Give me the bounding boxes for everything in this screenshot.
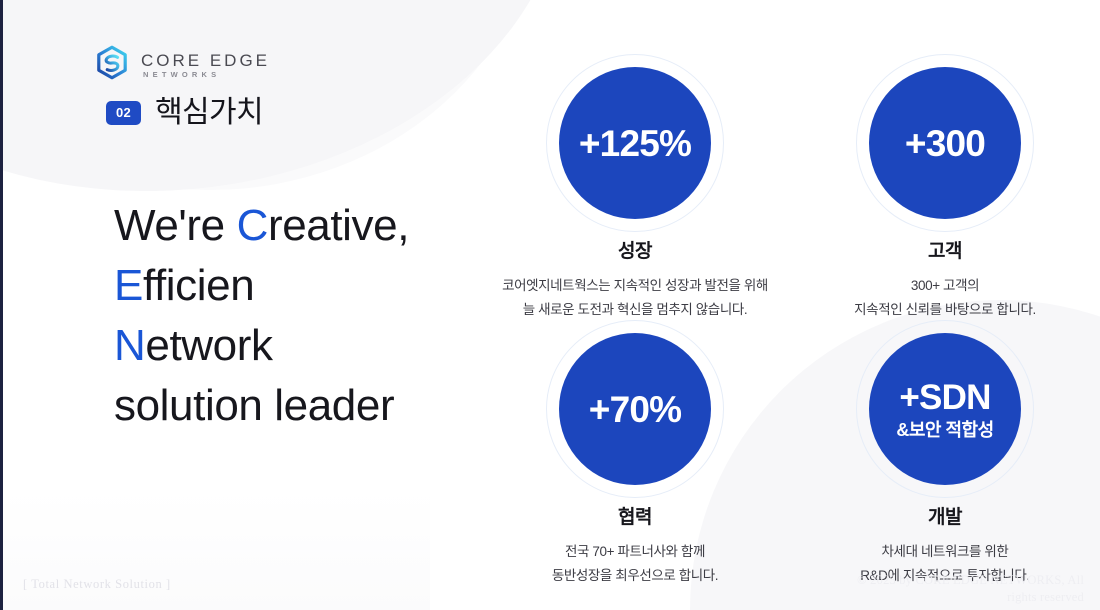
- brand-name: CORE EDGE: [141, 52, 270, 69]
- stat-value: +125%: [579, 125, 691, 162]
- section-title: 핵심가치: [155, 98, 263, 128]
- stat-label: 협력: [618, 508, 652, 527]
- page-headline: We're Creative, Efficien Network solutio…: [114, 196, 409, 436]
- stat-label: 고객: [928, 242, 962, 261]
- section-heading: 02 핵심가치: [106, 98, 263, 128]
- stat-description: 코어엣지네트웍스는 지속적인 성장과 발전을 위해 늘 새로운 도전과 혁신을 …: [502, 274, 768, 322]
- stat-description: 300+ 고객의 지속적인 신뢰를 바탕으로 합니다.: [854, 274, 1036, 322]
- headline-line-3: Network: [114, 316, 409, 376]
- stat-grid: +125% 성장 코어엣지네트웍스는 지속적인 성장과 발전을 위해 늘 새로운…: [480, 62, 1100, 572]
- left-edge-rule: [0, 0, 3, 610]
- brand-wordmark: CORE EDGE NETWORKS: [141, 50, 270, 79]
- stat-card-growth: +125% 성장 코어엣지네트웍스는 지속적인 성장과 발전을 위해 늘 새로운…: [480, 62, 790, 322]
- headline-accent-c: C: [237, 201, 268, 250]
- stat-card-development: +SDN &보안 적합성 개발 차세대 네트워크를 위한 R&D에 지속적으로 …: [790, 328, 1100, 588]
- headline-line-2: Efficien: [114, 256, 409, 316]
- headline-accent-e: E: [114, 261, 143, 310]
- stat-bubble: +70%: [559, 333, 711, 485]
- stat-description-line-1: 차세대 네트워크를 위한: [860, 540, 1030, 564]
- stat-bubble: +SDN &보안 적합성: [869, 333, 1021, 485]
- stat-bubble: +300: [869, 67, 1021, 219]
- headline-line2-suffix: fficien: [143, 261, 254, 310]
- stat-value: +300: [905, 125, 985, 162]
- stat-bubble-wrap: +300: [864, 62, 1026, 224]
- headline-line-1: We're Creative,: [114, 196, 409, 256]
- stat-label: 성장: [618, 242, 652, 261]
- stat-description-line-1: 300+ 고객의: [854, 274, 1036, 298]
- stat-label: 개발: [928, 508, 962, 527]
- brand-subname: NETWORKS: [141, 71, 270, 79]
- stat-value: +70%: [589, 391, 681, 428]
- background-decor-bottom-fade: [0, 490, 430, 610]
- brand-lockup: CORE EDGE NETWORKS: [92, 44, 270, 84]
- slide-canvas: CORE EDGE NETWORKS 02 핵심가치 We're Creativ…: [0, 0, 1100, 610]
- stat-bubble-wrap: +70%: [554, 328, 716, 490]
- stat-description-line-1: 전국 70+ 파트너사와 함께: [552, 540, 718, 564]
- headline-accent-n: N: [114, 321, 145, 370]
- headline-line1-suffix: reative,: [268, 201, 409, 250]
- stat-description-line-2: 지속적인 신뢰를 바탕으로 합니다.: [854, 298, 1036, 322]
- footer-tagline: [ Total Network Solution ]: [23, 577, 171, 592]
- stat-description: 전국 70+ 파트너사와 함께 동반성장을 최우선으로 합니다.: [552, 540, 718, 588]
- section-number-badge: 02: [106, 101, 141, 125]
- headline-line-4: solution leader: [114, 376, 409, 436]
- hexagon-swoosh-logo-icon: [92, 44, 132, 84]
- stat-card-partnership: +70% 협력 전국 70+ 파트너사와 함께 동반성장을 최우선으로 합니다.: [480, 328, 790, 588]
- stat-description-line-2: 늘 새로운 도전과 혁신을 멈추지 않습니다.: [502, 298, 768, 322]
- headline-line3-suffix: etwork: [145, 321, 272, 370]
- headline-line1-prefix: We're: [114, 201, 237, 250]
- footer-copyright: © 2025 by CORE EDGE NETWORKS, All rights…: [852, 572, 1084, 606]
- stat-card-customers: +300 고객 300+ 고객의 지속적인 신뢰를 바탕으로 합니다.: [790, 62, 1100, 322]
- stat-bubble-wrap: +125%: [554, 62, 716, 224]
- stat-description-line-2: 동반성장을 최우선으로 합니다.: [552, 564, 718, 588]
- stat-bubble: +125%: [559, 67, 711, 219]
- stat-description-line-1: 코어엣지네트웍스는 지속적인 성장과 발전을 위해: [502, 274, 768, 298]
- stat-value: +SDN: [899, 380, 990, 415]
- stat-bubble-wrap: +SDN &보안 적합성: [864, 328, 1026, 490]
- stat-value-sub: &보안 적합성: [896, 421, 993, 439]
